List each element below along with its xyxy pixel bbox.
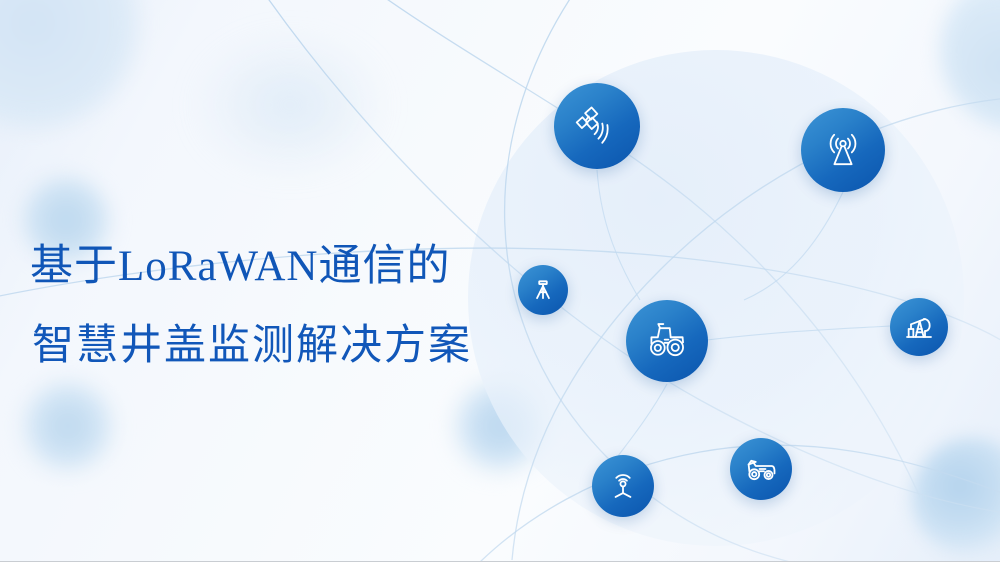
- title-line-2: 智慧井盖监测解决方案: [30, 306, 472, 384]
- node-surveying-tripod: [518, 265, 568, 315]
- wireless-sensor-icon: [606, 469, 640, 503]
- background-blob-top-right: [940, 0, 1000, 130]
- node-satellite: [554, 83, 640, 169]
- node-radio-tower: [801, 108, 885, 192]
- background-blob-bottom-right: [912, 438, 1000, 558]
- title-slide: 基于LoRaWAN通信的 智慧井盖监测解决方案: [0, 0, 1000, 562]
- node-oil-pumpjack: [890, 298, 948, 356]
- tractor-icon: [645, 319, 689, 363]
- node-tractor: [626, 300, 708, 382]
- satellite-icon: [574, 103, 620, 149]
- title-line-1: 基于LoRaWAN通信的: [30, 228, 472, 306]
- background-blob-center: [452, 378, 548, 474]
- background-blob-top-left: [0, 0, 148, 138]
- surveying-tripod-icon: [530, 277, 556, 303]
- radio-tower-icon: [821, 128, 865, 172]
- node-wireless-sensor: [592, 455, 654, 517]
- background-blob-upper-faint: [190, 30, 390, 180]
- node-harvester: [730, 438, 792, 500]
- background-blob-left-lower: [20, 378, 116, 474]
- page-title: 基于LoRaWAN通信的 智慧井盖监测解决方案: [30, 228, 472, 384]
- harvester-icon: [743, 451, 779, 487]
- oil-pumpjack-icon: [903, 311, 935, 343]
